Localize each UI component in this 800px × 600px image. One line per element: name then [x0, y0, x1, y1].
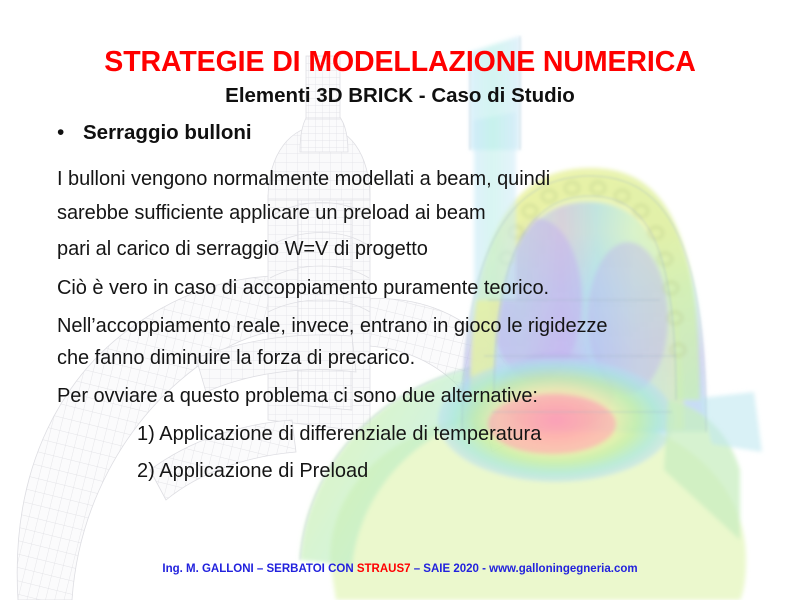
body-line: Per ovviare a questo problema ci sono du… — [57, 385, 538, 408]
bullet-item-serraggio: • Serraggio bulloni — [57, 121, 252, 145]
body-line: Nell’accoppiamento reale, invece, entran… — [57, 315, 608, 338]
bullet-point-icon: • — [57, 122, 83, 143]
footer-text-after: – SAIE 2020 - www.galloningegneria.com — [411, 563, 638, 575]
slide-footer: Ing. M. GALLONI – SERBATOI CON STRAUS7 –… — [0, 563, 800, 575]
slide-canvas: STRATEGIE DI MODELLAZIONE NUMERICA Eleme… — [0, 0, 800, 600]
slide-content: STRATEGIE DI MODELLAZIONE NUMERICA Eleme… — [0, 0, 800, 600]
body-line: Ciò è vero in caso di accoppiamento pura… — [57, 277, 549, 300]
body-line: pari al carico di serraggio W=V di proge… — [57, 238, 428, 261]
page-title: STRATEGIE DI MODELLAZIONE NUMERICA — [0, 46, 800, 79]
numbered-item: 1) Applicazione di differenziale di temp… — [137, 423, 541, 446]
footer-text-before: Ing. M. GALLONI – SERBATOI CON — [162, 563, 356, 575]
footer-highlight: STRAUS7 — [357, 563, 411, 575]
body-line: I bulloni vengono normalmente modellati … — [57, 168, 550, 191]
page-subtitle: Elementi 3D BRICK - Caso di Studio — [0, 84, 800, 108]
numbered-item: 2) Applicazione di Preload — [137, 460, 368, 483]
bullet-item-label: Serraggio bulloni — [83, 121, 252, 145]
body-line: che fanno diminuire la forza di precaric… — [57, 347, 415, 370]
body-line: sarebbe sufficiente applicare un preload… — [57, 202, 486, 225]
